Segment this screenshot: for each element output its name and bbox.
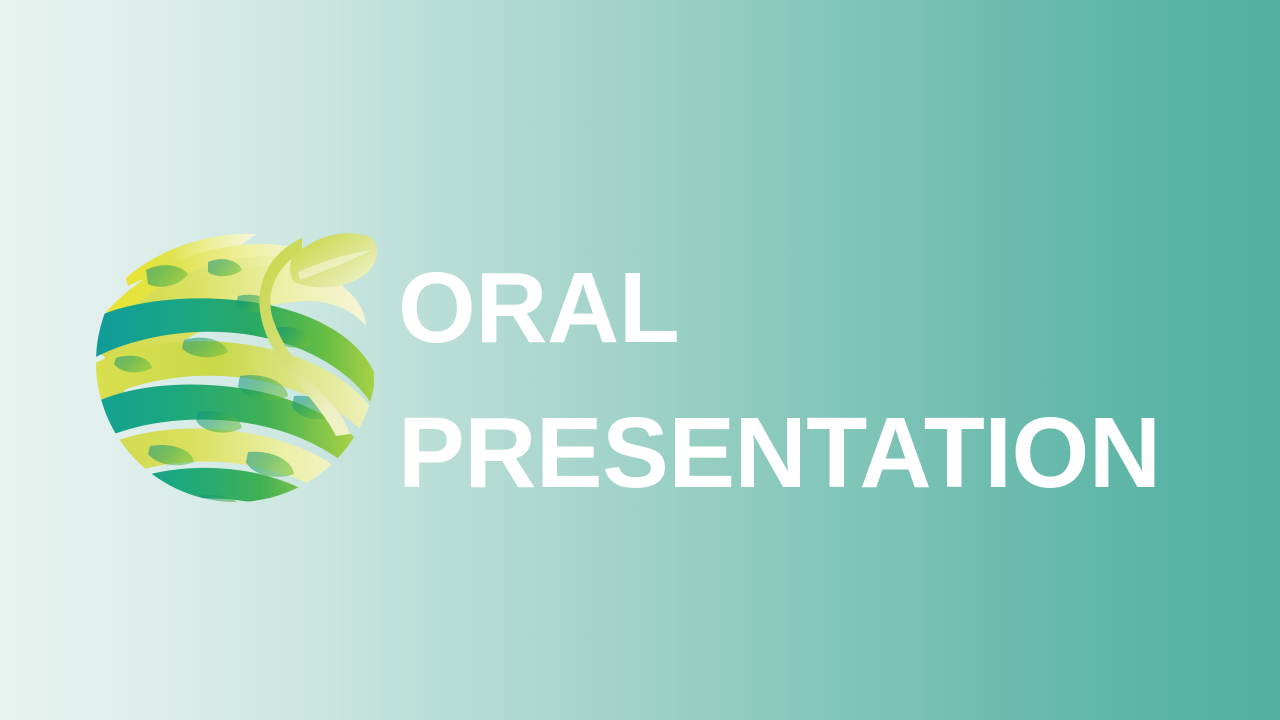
- slide-title: ORAL PRESENTATION: [398, 236, 1218, 526]
- presentation-slide: ORAL PRESENTATION: [0, 0, 1280, 720]
- title-line-oral: ORAL: [398, 236, 1218, 381]
- title-line-presentation: PRESENTATION: [398, 381, 1218, 526]
- globe-logo: [88, 200, 384, 520]
